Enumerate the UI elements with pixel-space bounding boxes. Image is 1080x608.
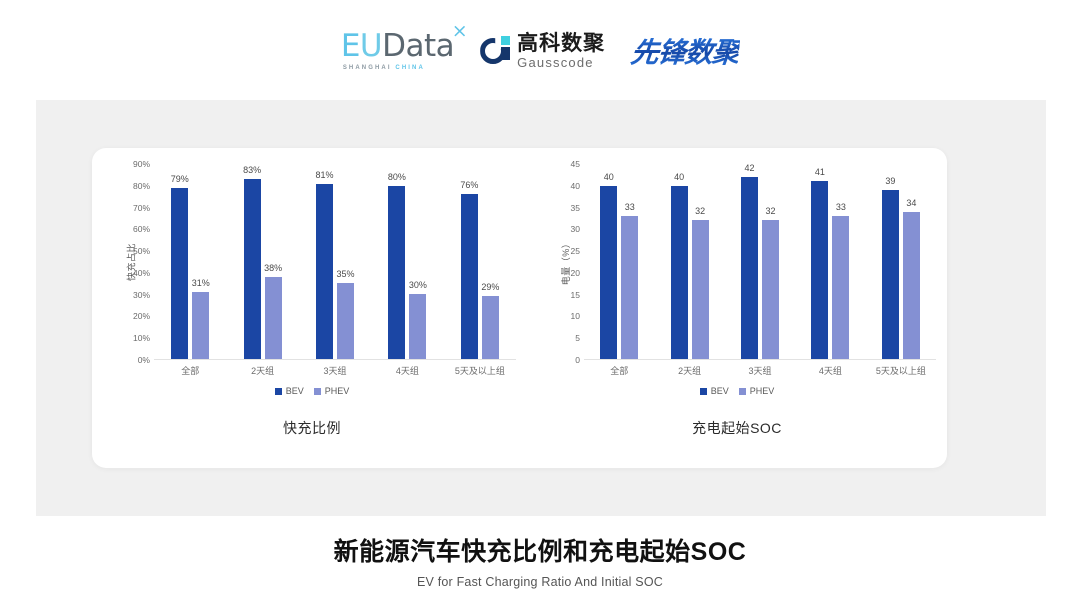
bar-bev[interactable]: 79% — [171, 188, 188, 359]
y-tick-label: 40 — [571, 181, 580, 191]
bar-value-label: 79% — [171, 174, 189, 184]
evdata-letter-v: U — [360, 28, 382, 64]
gausscode-logo: 高科数聚 Gausscode — [480, 33, 605, 69]
xianfeng-name-cn: 先锋数聚 — [629, 31, 741, 71]
bar-value-label: 40 — [604, 172, 614, 182]
chart-caption-right: 充电起始SOC — [532, 418, 942, 438]
legend-right: BEVPHEV — [532, 384, 942, 398]
y-axis-ticks-right: 454035302520151050 — [548, 164, 580, 360]
y-tick-label: 80% — [133, 181, 150, 191]
bar-phev[interactable]: 32 — [762, 220, 779, 359]
x-tick-label: 4天组 — [371, 364, 443, 378]
y-tick-label: 0% — [138, 355, 150, 365]
evdata-tagline-city: SHANGHAI — [343, 65, 392, 71]
bar-group: 81%35% — [299, 164, 371, 359]
y-tick-label: 30 — [571, 224, 580, 234]
y-tick-label: 35 — [571, 203, 580, 213]
y-tick-label: 10 — [571, 311, 580, 321]
y-tick-label: 5 — [575, 333, 580, 343]
legend-item-bev[interactable]: BEV — [275, 386, 304, 396]
y-tick-label: 20% — [133, 311, 150, 321]
logo-bar: EUData × SHANGHAI CHINA 高科数聚 Gausscode 先… — [0, 22, 1080, 80]
bar-groups-left: 79%31%83%38%81%35%80%30%76%29% — [154, 164, 516, 359]
bar-value-label: 32 — [695, 206, 705, 216]
bar-value-label: 80% — [388, 172, 406, 182]
y-tick-label: 50% — [133, 246, 150, 256]
legend-label: PHEV — [325, 386, 350, 396]
bar-bev[interactable]: 76% — [461, 194, 478, 359]
bar-bev[interactable]: 81% — [316, 184, 333, 360]
bar-value-label: 29% — [481, 282, 499, 292]
bar-bev[interactable]: 42 — [741, 177, 758, 359]
bar-value-label: 35% — [337, 269, 355, 279]
y-tick-label: 30% — [133, 290, 150, 300]
bar-group: 3934 — [866, 164, 936, 359]
y-axis-ticks-left: 90%80%70%60%50%40%30%20%10%0% — [118, 164, 150, 360]
x-axis-line-right — [584, 359, 936, 360]
bar-group: 4133 — [795, 164, 865, 359]
y-tick-label: 45 — [571, 159, 580, 169]
chart-fast-charging-ratio: 快充占比 90%80%70%60%50%40%30%20%10%0% 79%31… — [102, 148, 522, 468]
bar-bev[interactable]: 40 — [600, 186, 617, 359]
bar-group: 4032 — [654, 164, 724, 359]
x-tick-label: 全部 — [154, 364, 226, 378]
evdata-x-icon: × — [452, 22, 467, 41]
bar-value-label: 42 — [745, 163, 755, 173]
footer-title-en: EV for Fast Charging Ratio And Initial S… — [0, 575, 1080, 589]
legend-label: BEV — [286, 386, 304, 396]
plot-area-left: 快充占比 90%80%70%60%50%40%30%20%10%0% 79%31… — [154, 164, 516, 360]
bar-value-label: 38% — [264, 263, 282, 273]
legend-swatch-icon — [739, 388, 746, 395]
bar-value-label: 40 — [674, 172, 684, 182]
bar-phev[interactable]: 30% — [409, 294, 426, 359]
footer: 新能源汽车快充比例和充电起始SOC EV for Fast Charging R… — [0, 532, 1080, 589]
x-axis-ticks-right: 全部2天组3天组4天组5天及以上组 — [584, 364, 936, 378]
bar-value-label: 41 — [815, 167, 825, 177]
legend-swatch-icon — [314, 388, 321, 395]
y-tick-label: 70% — [133, 203, 150, 213]
bar-value-label: 31% — [192, 278, 210, 288]
y-tick-label: 15 — [571, 290, 580, 300]
legend-label: BEV — [711, 386, 729, 396]
charts-card: 快充占比 90%80%70%60%50%40%30%20%10%0% 79%31… — [92, 148, 947, 468]
y-tick-label: 90% — [133, 159, 150, 169]
y-tick-label: 0 — [575, 355, 580, 365]
gausscode-name-en: Gausscode — [517, 56, 605, 69]
bar-group: 4033 — [584, 164, 654, 359]
evdata-wordmark: EUData × — [341, 31, 454, 62]
legend-swatch-icon — [275, 388, 282, 395]
x-axis-line-left — [154, 359, 516, 360]
x-tick-label: 3天组 — [299, 364, 371, 378]
bar-phev[interactable]: 32 — [692, 220, 709, 359]
evdata-letter-e: E — [341, 28, 360, 64]
bar-phev[interactable]: 38% — [265, 277, 282, 359]
legend-label: PHEV — [750, 386, 775, 396]
bar-value-label: 81% — [316, 170, 334, 180]
evdata-logo: EUData × SHANGHAI CHINA — [341, 31, 454, 71]
y-tick-label: 60% — [133, 224, 150, 234]
legend-item-phev[interactable]: PHEV — [739, 386, 775, 396]
bar-phev[interactable]: 35% — [337, 283, 354, 359]
legend-swatch-icon — [700, 388, 707, 395]
bar-phev[interactable]: 29% — [482, 296, 499, 359]
gausscode-name-cn: 高科数聚 — [517, 33, 605, 54]
bar-bev[interactable]: 83% — [244, 179, 261, 359]
legend-left: BEVPHEV — [102, 384, 522, 398]
evdata-tagline: SHANGHAI CHINA — [343, 65, 425, 71]
x-axis-ticks-left: 全部2天组3天组4天组5天及以上组 — [154, 364, 516, 378]
bar-bev[interactable]: 80% — [388, 186, 405, 359]
plot-area-right: 电量（%） 454035302520151050 403340324232413… — [584, 164, 936, 360]
bar-value-label: 32 — [766, 206, 776, 216]
legend-item-bev[interactable]: BEV — [700, 386, 729, 396]
bar-value-label: 76% — [460, 180, 478, 190]
y-tick-label: 10% — [133, 333, 150, 343]
y-tick-label: 20 — [571, 268, 580, 278]
bar-group: 79%31% — [154, 164, 226, 359]
bar-value-label: 30% — [409, 280, 427, 290]
bar-groups-right: 40334032423241333934 — [584, 164, 936, 359]
x-tick-label: 5天及以上组 — [444, 364, 516, 378]
bar-group: 80%30% — [371, 164, 443, 359]
gausscode-mark-icon — [480, 36, 510, 66]
y-tick-label: 25 — [571, 246, 580, 256]
bar-value-label: 39 — [885, 176, 895, 186]
chart-caption-left: 快充比例 — [102, 418, 522, 438]
bar-group: 76%29% — [444, 164, 516, 359]
footer-title-cn: 新能源汽车快充比例和充电起始SOC — [0, 532, 1080, 568]
bar-phev[interactable]: 33 — [621, 216, 638, 359]
bar-value-label: 33 — [836, 202, 846, 212]
x-tick-label: 4天组 — [795, 364, 865, 378]
xianfeng-logo: 先锋数聚 — [631, 31, 739, 71]
bar-bev[interactable]: 41 — [811, 181, 828, 359]
bar-bev[interactable]: 40 — [671, 186, 688, 359]
bar-value-label: 33 — [625, 202, 635, 212]
x-tick-label: 2天组 — [226, 364, 298, 378]
x-tick-label: 5天及以上组 — [866, 364, 936, 378]
chart-initial-soc: 电量（%） 454035302520151050 403340324232413… — [532, 148, 942, 468]
evdata-tagline-country: CHINA — [395, 65, 425, 71]
evdata-letter-data: Data — [382, 28, 454, 64]
legend-item-phev[interactable]: PHEV — [314, 386, 350, 396]
x-tick-label: 2天组 — [654, 364, 724, 378]
x-tick-label: 全部 — [584, 364, 654, 378]
bar-group: 4232 — [725, 164, 795, 359]
bar-group: 83%38% — [226, 164, 298, 359]
bar-value-label: 83% — [243, 165, 261, 175]
bar-phev[interactable]: 33 — [832, 216, 849, 359]
y-tick-label: 40% — [133, 268, 150, 278]
bar-value-label: 34 — [906, 198, 916, 208]
bar-phev[interactable]: 34 — [903, 212, 920, 359]
x-tick-label: 3天组 — [725, 364, 795, 378]
bar-bev[interactable]: 39 — [882, 190, 899, 359]
bar-phev[interactable]: 31% — [192, 292, 209, 359]
